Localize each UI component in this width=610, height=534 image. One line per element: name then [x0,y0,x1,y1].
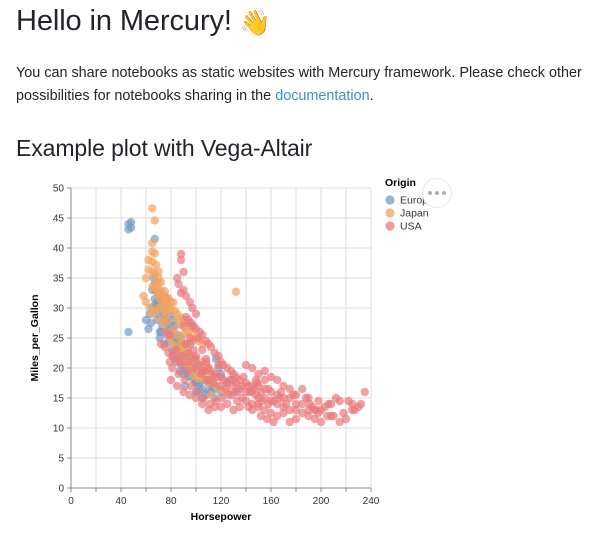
page-title-text: Hello in Mercury! [16,5,232,37]
x-axis-tick-label: 80 [165,496,177,507]
data-point [276,394,284,402]
data-point [286,385,294,393]
x-axis-tick-label: 200 [313,496,330,507]
data-point [144,266,152,274]
page-title: Hello in Mercury! 👋 [16,4,594,39]
ellipsis-icon-dot-1 [428,191,432,195]
legend-swatch-usa[interactable] [385,222,394,231]
x-axis-title: Horsepower [191,511,252,523]
data-point [227,367,235,375]
data-point [142,274,150,282]
x-axis-tick-label: 240 [363,496,380,507]
data-point [317,418,325,426]
data-points-layer [124,205,369,427]
data-point [124,220,132,228]
data-point [361,388,369,396]
data-point [181,376,189,384]
data-point [166,331,174,339]
data-point [198,400,206,408]
vega-chart-container: 0510152025303540455004080120160200240Hor… [16,174,610,534]
y-axis-tick-label: 50 [53,184,65,195]
data-point [232,379,240,387]
y-axis-tick-label: 35 [53,274,65,285]
data-point [344,397,352,405]
legend-title: Origin [385,177,416,189]
y-axis-tick-label: 0 [58,484,64,495]
legend-label-japan[interactable]: Japan [400,208,429,220]
data-point [292,391,300,399]
data-point [164,349,172,357]
data-point [179,388,187,396]
data-point [183,367,191,375]
data-point [148,239,156,247]
data-point [159,307,167,315]
data-point [179,322,187,330]
data-point [264,385,272,393]
documentation-link[interactable]: documentation [275,88,369,104]
data-point [188,337,196,345]
data-point [174,370,182,378]
section-title: Example plot with Vega-Altair [16,135,594,162]
data-point [173,382,181,390]
data-point [282,400,290,408]
legend-swatch-europe[interactable] [385,196,394,205]
y-axis-title: Miles_per_Gallon [29,295,41,382]
data-point [269,418,277,426]
x-axis-tick-label: 160 [263,496,280,507]
intro-text-after: . [370,88,374,104]
legend-swatch-japan[interactable] [385,209,394,218]
data-point [257,388,265,396]
data-point [261,367,269,375]
data-point [148,248,156,256]
data-point [324,400,332,408]
data-point [249,385,257,393]
app-page: Hello in Mercury! 👋 You can share notebo… [0,4,610,534]
data-point [351,406,359,414]
data-point [236,403,244,411]
intro-paragraph: You can share notebooks as static websit… [16,62,594,109]
data-point [151,217,159,225]
x-axis-tick-label: 0 [68,496,74,507]
data-point [223,400,231,408]
ellipsis-icon-dot-3 [442,191,446,195]
y-axis-tick-label: 40 [53,244,65,255]
data-point [232,288,240,296]
data-point [192,310,200,318]
y-axis-tick-label: 20 [53,364,65,375]
data-point [261,376,269,384]
data-point [179,268,187,276]
data-point [327,412,335,420]
data-point [339,409,347,417]
data-point [279,409,287,417]
y-axis-tick-label: 45 [53,214,65,225]
data-point [187,382,195,390]
data-point [124,328,132,336]
data-point [152,286,160,294]
data-point [314,397,322,405]
data-point [239,373,247,381]
y-axis-tick-label: 10 [53,424,65,435]
data-point [242,361,250,369]
data-point [292,415,300,423]
data-point [298,385,306,393]
data-point [177,256,185,264]
waving-hand-icon: 👋 [240,8,271,37]
data-point [164,317,172,325]
x-axis-tick-label: 40 [115,496,127,507]
legend-label-usa[interactable]: USA [400,221,422,233]
scatter-plot[interactable]: 0510152025303540455004080120160200240Hor… [16,174,610,534]
data-point [198,346,206,354]
data-point [312,406,320,414]
y-axis-tick-label: 25 [53,334,65,345]
x-axis-tick-label: 120 [213,496,230,507]
data-point [357,400,365,408]
data-point [332,394,340,402]
y-axis-tick-label: 5 [58,454,64,465]
data-point [167,376,175,384]
data-point [176,358,184,366]
y-axis-tick-label: 30 [53,304,65,315]
data-point [148,205,156,213]
y-axis-tick-label: 15 [53,394,65,405]
data-point [184,349,192,357]
data-point [214,361,222,369]
ellipsis-icon-dot-2 [435,191,439,195]
